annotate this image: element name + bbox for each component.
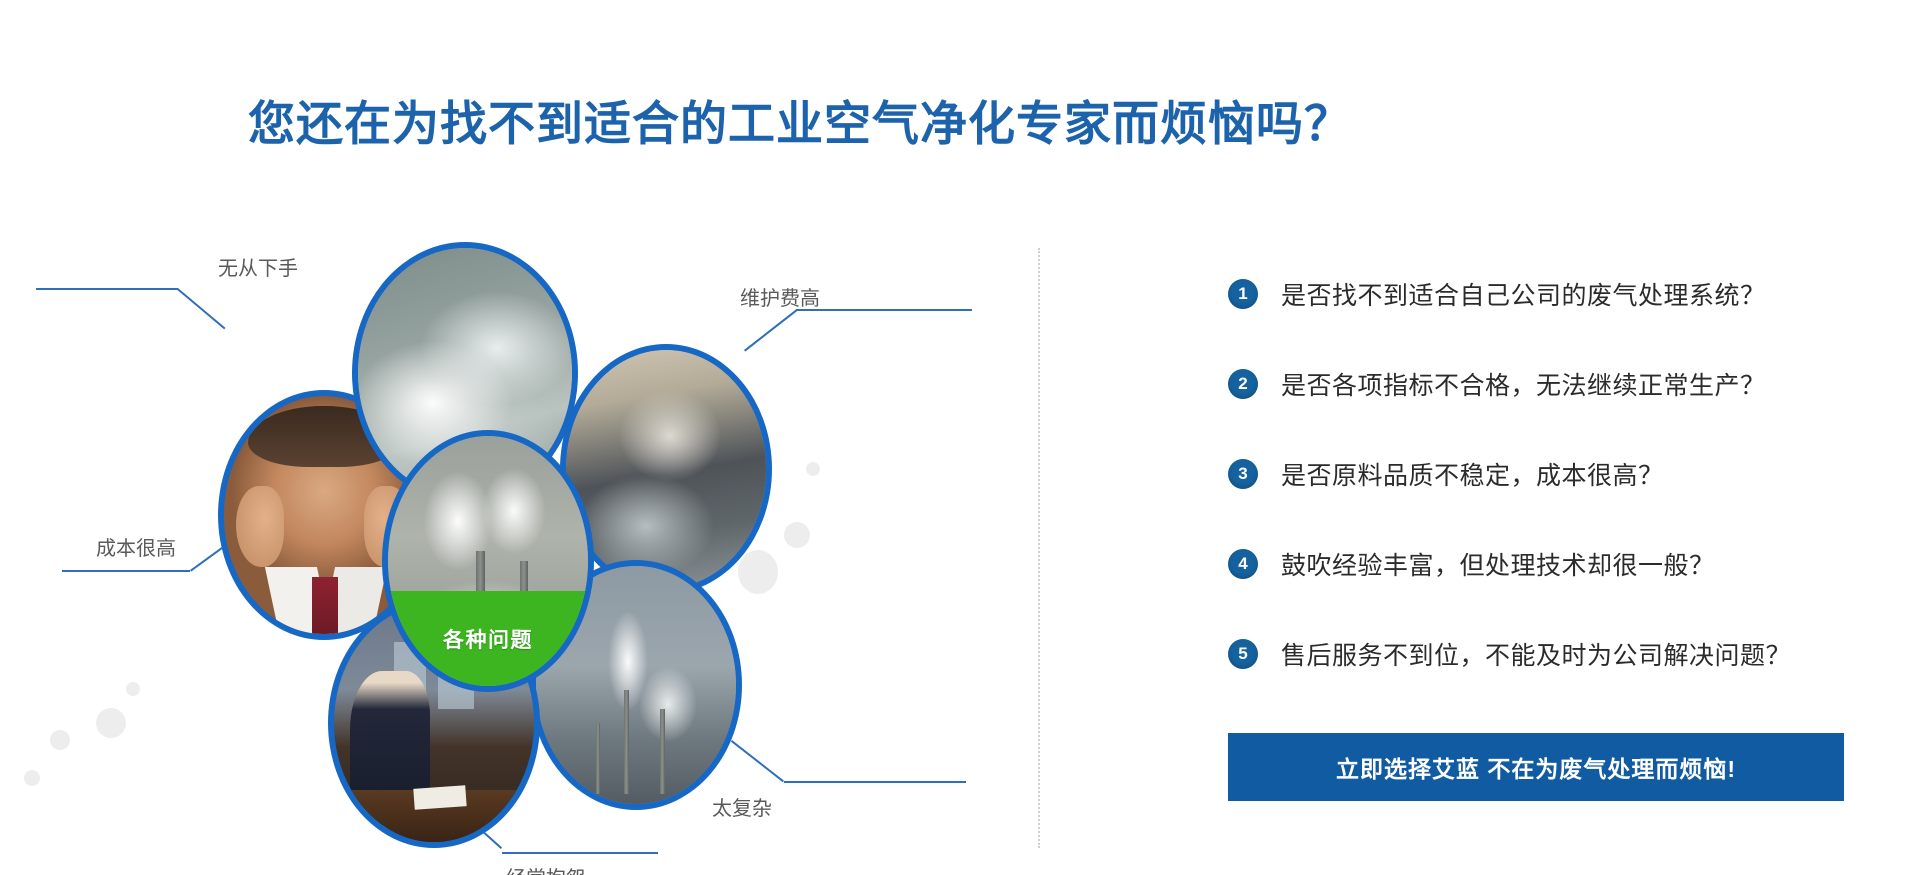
list-item-number-badge: 1 xyxy=(1228,279,1258,309)
problem-flower-illustration: 各种问题 无从下手 维护费高 成本很高 太复杂 经常抱怨 xyxy=(0,230,1020,875)
list-item-label: 鼓吹经验丰富，但处理技术却很一般？ xyxy=(1281,546,1715,582)
decorative-bubble-icon xyxy=(96,708,126,738)
paper-sheet xyxy=(413,785,466,810)
necktie-shape xyxy=(312,577,338,634)
page-title: 您还在为找不到适合的工业空气净化专家而烦恼吗？ xyxy=(0,98,1600,150)
problem-list: 1 是否找不到适合自己公司的废气处理系统？ 2 是否各项指标不合格，无法继续正常… xyxy=(1228,268,1868,718)
list-item-number-badge: 5 xyxy=(1228,639,1258,669)
list-item-label: 是否找不到适合自己公司的废气处理系统？ xyxy=(1281,276,1766,312)
petal-smokestacks-center: 各种问题 xyxy=(382,430,594,692)
decorative-bubble-icon xyxy=(784,522,810,548)
list-item-number-badge: 4 xyxy=(1228,549,1258,579)
list-item: 3 是否原料品质不稳定，成本很高？ xyxy=(1228,448,1868,500)
connector-line-left xyxy=(62,570,242,610)
connector-line-top-left xyxy=(36,288,236,344)
label-high-cost: 成本很高 xyxy=(96,532,176,561)
list-item: 5 售后服务不到位，不能及时为公司解决问题？ xyxy=(1228,628,1868,680)
decorative-bubble-icon xyxy=(806,462,820,476)
vertical-divider xyxy=(1038,248,1040,848)
cta-button-label: 立即选择艾蓝 不在为废气处理而烦恼! xyxy=(1336,750,1736,784)
hand-left-shape xyxy=(236,486,284,567)
chimney-shape xyxy=(660,709,665,795)
smoke-cloud-dark-image xyxy=(566,350,766,588)
list-item: 1 是否找不到适合自己公司的废气处理系统？ xyxy=(1228,268,1868,320)
promo-banner: 您还在为找不到适合的工业空气净化专家而烦恼吗？ xyxy=(0,0,1920,875)
connector-line-bottom-right xyxy=(732,740,972,800)
list-item: 2 是否各项指标不合格，无法继续正常生产？ xyxy=(1228,358,1868,410)
decorative-bubble-icon xyxy=(50,730,70,750)
label-high-maintenance-cost: 维护费高 xyxy=(740,282,820,311)
list-item-label: 售后服务不到位，不能及时为公司解决问题？ xyxy=(1281,636,1791,672)
list-item-label: 是否各项指标不合格，无法继续正常生产？ xyxy=(1281,366,1766,402)
connector-line-top-right xyxy=(744,350,974,410)
label-frequent-complaints: 经常抱怨 xyxy=(506,862,586,875)
label-no-starting-point: 无从下手 xyxy=(218,252,298,281)
list-item: 4 鼓吹经验丰富，但处理技术却很一般？ xyxy=(1228,538,1868,590)
decorative-bubble-icon xyxy=(126,682,140,696)
chimney-shape xyxy=(596,723,600,794)
center-badge-label: 各种问题 xyxy=(443,624,533,654)
list-item-label: 是否原料品质不稳定，成本很高？ xyxy=(1281,456,1664,492)
chimney-shape xyxy=(624,690,629,795)
decorative-bubble-icon xyxy=(24,770,40,786)
center-badge: 各种问题 xyxy=(388,591,588,686)
list-item-number-badge: 3 xyxy=(1228,459,1258,489)
cta-button[interactable]: 立即选择艾蓝 不在为废气处理而烦恼! xyxy=(1228,733,1844,801)
list-item-number-badge: 2 xyxy=(1228,369,1258,399)
